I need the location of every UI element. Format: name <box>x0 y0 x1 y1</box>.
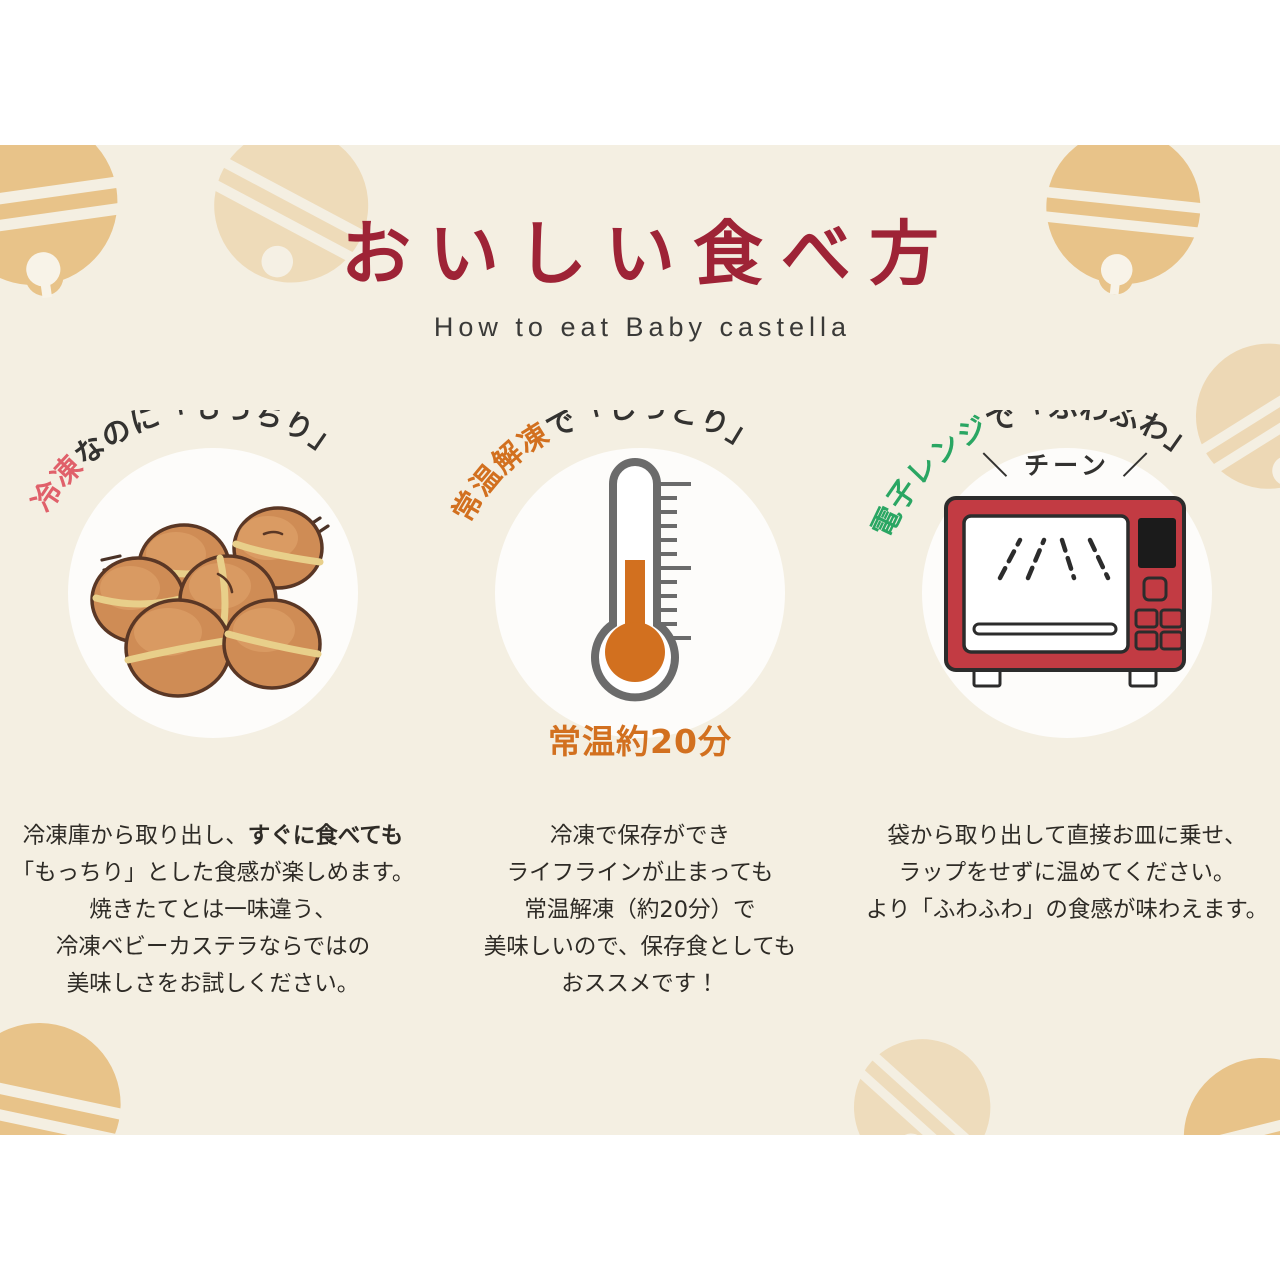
page-subtitle: How to eat Baby castella <box>0 312 1280 343</box>
body-line: 冷凍庫から取り出し、すぐに食べても <box>0 818 426 855</box>
body-line: ライフラインが止まっても <box>427 855 853 892</box>
page-header: おいしい食べ方 How to eat Baby castella <box>0 145 1280 343</box>
illustration-area: 電子レンジで「ふわふわ」 ＼ チーン ／ <box>854 410 1280 810</box>
body-line: 袋から取り出して直接お皿に乗せ、 <box>854 818 1280 855</box>
method-column-room-temp-shittori: 常温解凍で「しっとり」 <box>427 410 853 1130</box>
body-line: 焼きたてとは一味違う、 <box>0 892 426 929</box>
body-copy-microwave: 袋から取り出して直接お皿に乗せ、 ラップをせずに温めてください。 より「ふわふわ… <box>854 818 1280 929</box>
thermometer-icon <box>495 448 785 738</box>
body-line: 冷凍で保存ができ <box>427 818 853 855</box>
body-copy-frozen: 冷凍庫から取り出し、すぐに食べても 「もっちり」とした食感が楽しめます。 焼きた… <box>0 818 426 1003</box>
method-column-frozen-mochiri: 冷凍なのに「もっちり」 <box>0 410 426 1130</box>
body-line: 「もっちり」とした食感が楽しめます。 <box>0 855 426 892</box>
illustration-area: 冷凍なのに「もっちり」 <box>0 410 426 810</box>
body-copy-room-temp: 冷凍で保存ができ ライフラインが止まっても 常温解凍（約20分）で 美味しいので… <box>427 818 853 1003</box>
body-line: より「ふわふわ」の食感が味わえます。 <box>854 892 1280 929</box>
body-line: 美味しいので、保存食としても <box>427 929 853 966</box>
body-line: おススメです！ <box>427 966 853 1003</box>
body-line: 美味しさをお試しください。 <box>0 966 426 1003</box>
body-line: 常温解凍（約20分）で <box>427 892 853 929</box>
method-column-microwave-fuwafuwa: 電子レンジで「ふわふわ」 ＼ チーン ／ <box>854 410 1280 1130</box>
sound-effect-label: ＼ チーン ／ <box>854 446 1280 482</box>
body-line: 冷凍ベビーカステラならではの <box>0 929 426 966</box>
cream-panel: おいしい食べ方 How to eat Baby castella 冷凍なのに「も… <box>0 145 1280 1135</box>
body-line: ラップをせずに温めてください。 <box>854 855 1280 892</box>
baby-castella-illustration <box>68 448 358 738</box>
thermometer-caption: 常温約20分 <box>427 715 853 763</box>
microwave-icon <box>922 482 1212 772</box>
page-title: おいしい食べ方 <box>0 145 1280 289</box>
illustration-area: 常温解凍で「しっとり」 <box>427 410 853 810</box>
method-columns: 冷凍なのに「もっちり」 <box>0 410 1280 1130</box>
